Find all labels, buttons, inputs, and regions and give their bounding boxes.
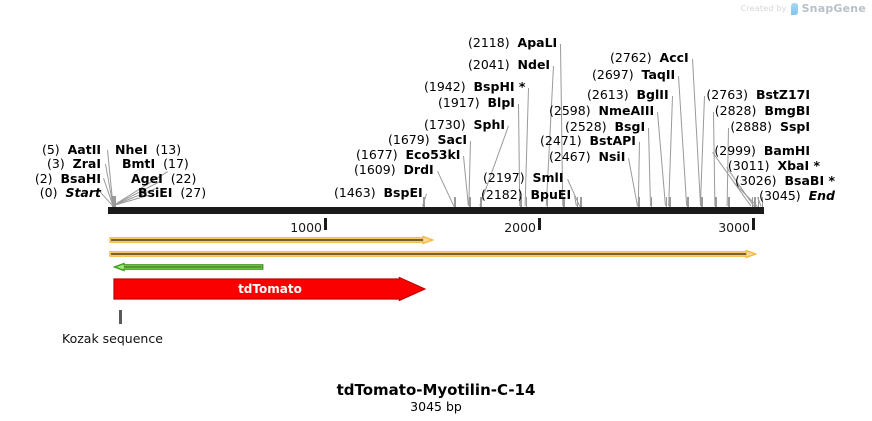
restriction-site-label: (0) Start — [0, 186, 105, 200]
feature-orange-feature-1[interactable] — [110, 236, 433, 244]
restriction-site-label: (2041) NdeI — [468, 58, 550, 72]
ruler-tick — [324, 218, 327, 230]
restriction-site-label: (5) AatII — [0, 143, 105, 157]
ruler-tick-label: 3000 — [682, 220, 750, 235]
feature-green-feature[interactable] — [114, 263, 263, 271]
restriction-site-label: (1942) BspHI * — [424, 80, 525, 94]
ruler-tick-label: 2000 — [468, 220, 536, 235]
kozak-sequence-marker — [119, 310, 122, 324]
ruler-tick — [538, 218, 541, 230]
ruler-tick-label: 1000 — [254, 220, 322, 235]
restriction-site-label: (2182) BpuEI — [481, 188, 571, 202]
restriction-site-label: (1677) Eco53kI — [356, 148, 460, 162]
restriction-site-label: (2467) NsiI — [549, 150, 625, 164]
construct-title: tdTomato-Myotilin-C-14 — [0, 381, 872, 399]
feature-tdTomato[interactable]: tdTomato — [114, 277, 425, 301]
watermark-brand-text: SnapGene — [802, 2, 866, 15]
restriction-site-label: (2471) BstAPI — [540, 134, 636, 148]
restriction-site-label: (2828) BmgBI — [715, 104, 810, 118]
feature-arrow-shape — [114, 278, 425, 301]
restriction-site-label: AgeI (22) — [131, 172, 196, 186]
restriction-site-label: (2528) BsgI — [565, 120, 645, 134]
restriction-site-label: (3026) BsaBI * — [735, 174, 835, 188]
restriction-site-label: (2197) SmlI — [483, 171, 564, 185]
restriction-site-label: BmtI (17) — [122, 157, 189, 171]
restriction-site-label: (3011) XbaI * — [728, 159, 820, 173]
ruler-tick — [752, 218, 755, 230]
kozak-sequence-label: Kozak sequence — [62, 331, 163, 346]
sequence-bar — [108, 207, 764, 214]
restriction-site-label: (1463) BspEI — [334, 186, 423, 200]
restriction-site-label: (2613) BglII — [587, 88, 669, 102]
restriction-site-label: BsiEI (27) — [138, 186, 206, 200]
restriction-site-label: (2) BsaHI — [0, 172, 105, 186]
restriction-site-label: (2999) BamHI — [714, 144, 810, 158]
restriction-site-label: (1917) BlpI — [438, 96, 515, 110]
restriction-site-label: (2697) TaqII — [592, 68, 675, 82]
restriction-site-label: (2762) AccI — [610, 51, 689, 65]
restriction-site-label: NheI (13) — [115, 143, 181, 157]
restriction-site-label: (1609) DrdI — [354, 163, 434, 177]
snapgene-watermark: Created by SnapGene — [741, 2, 866, 15]
restriction-site-label: (3) ZraI — [0, 157, 105, 171]
watermark-lead-text: Created by — [741, 4, 787, 13]
restriction-site-label: (3045) End — [759, 189, 835, 203]
construct-length: 3045 bp — [0, 399, 872, 414]
restriction-site-label: (2763) BstZ17I — [706, 88, 810, 102]
restriction-site-label: (2118) ApaLI — [468, 36, 557, 50]
restriction-site-label: (2598) NmeAIII — [549, 104, 654, 118]
snapgene-logo-icon — [791, 3, 798, 15]
restriction-site-label: (2888) SspI — [730, 120, 810, 134]
restriction-site-label: (1679) SacI — [388, 133, 467, 147]
restriction-site-label: (1730) SphI — [424, 118, 505, 132]
feature-orange-feature-2[interactable] — [110, 250, 756, 258]
